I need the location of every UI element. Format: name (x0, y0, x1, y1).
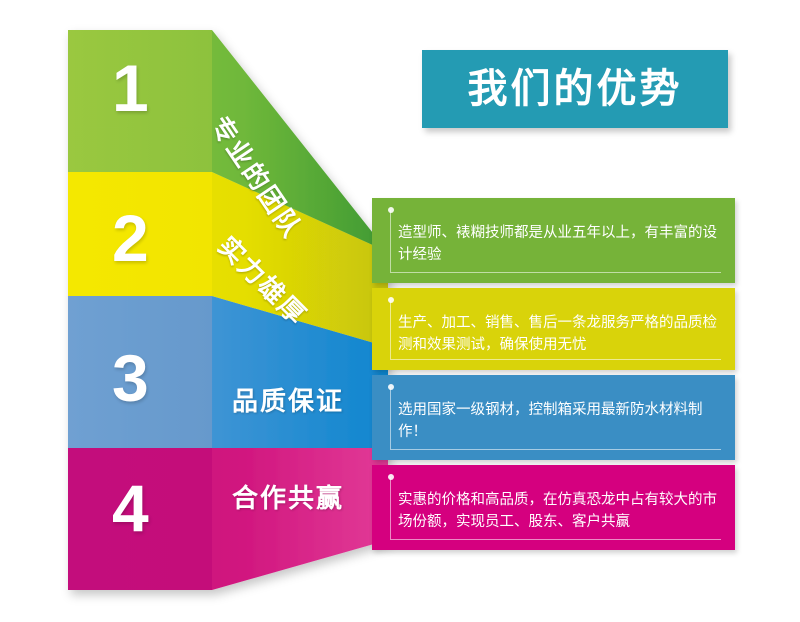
ribbon-face-2 (68, 172, 212, 296)
infographic-canvas: 1 2 3 4 专业的团队 实力雄厚 品质保证 合作共赢 我们的优势 造型师、裱… (0, 0, 800, 622)
bullet-dot-icon (388, 207, 394, 213)
ribbon-face-1 (68, 30, 212, 172)
panel-text-1: 造型师、裱糊技师都是从业五年以上，有丰富的设计经验 (398, 222, 721, 267)
ribbon-face-3 (68, 296, 212, 448)
description-panel-1[interactable]: 造型师、裱糊技师都是从业五年以上，有丰富的设计经验 (372, 198, 735, 283)
ribbon-face-4 (68, 448, 212, 590)
page-title-box: 我们的优势 (422, 50, 728, 128)
panel-text-4: 实惠的价格和高品质，在仿真恐龙中占有较大的市场份额，实现员工、股东、客户共赢 (398, 489, 721, 534)
bullet-dot-icon (388, 384, 394, 390)
bullet-dot-icon (388, 474, 394, 480)
description-panel-4[interactable]: 实惠的价格和高品质，在仿真恐龙中占有较大的市场份额，实现员工、股东、客户共赢 (372, 465, 735, 550)
bullet-dot-icon (388, 297, 394, 303)
panel-text-2: 生产、加工、销售、售后一条龙服务严格的品质检测和效果测试，确保使用无忧 (398, 312, 721, 357)
page-title: 我们的优势 (468, 69, 683, 109)
description-panel-3[interactable]: 选用国家一级钢材，控制箱采用最新防水材料制作！ (372, 375, 735, 460)
description-panel-2[interactable]: 生产、加工、销售、售后一条龙服务严格的品质检测和效果测试，确保使用无忧 (372, 288, 735, 370)
panel-text-3: 选用国家一级钢材，控制箱采用最新防水材料制作！ (398, 399, 721, 444)
